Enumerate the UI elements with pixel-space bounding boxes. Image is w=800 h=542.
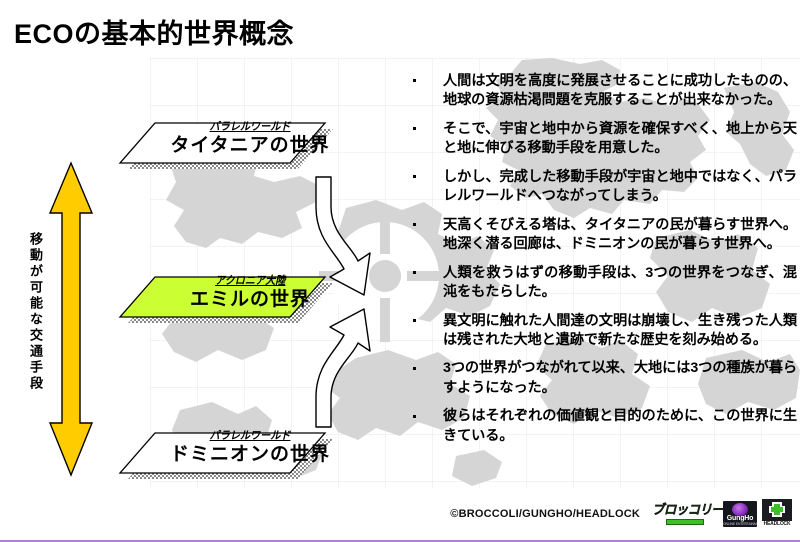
headlock-logo: HEADLOCK — [762, 499, 792, 529]
slide-canvas: ECOの基本的世界概念 — [0, 0, 800, 542]
bullet-text: そこで、宇宙と地中から資源を確保すべく、地上から天と地に伸びる移動手段を用意した… — [443, 121, 797, 156]
headlock-mark-icon — [769, 501, 785, 518]
bullet-item: 異文明に触れた人間達の文明は崩壊し、生き残った人類は残された大地と遺跡で新たな歴… — [405, 312, 797, 351]
gungho-logo: GungHo ONLINE ENTERTAINMENT, INC. — [723, 501, 757, 527]
bullet-text: 3つの世界がつながれて以来、大地には3つの種族が暮らすようになった。 — [443, 360, 797, 395]
bullet-text: 彼らはそれぞれの価値観と目的のために、この世界に生きている。 — [443, 408, 797, 443]
plane-dominion — [120, 433, 333, 479]
concept-bullet-list: 人間は文明を高度に発展させることに成功したものの、地球の資源枯渇問題を克服するこ… — [405, 72, 797, 455]
bullet-dot-icon — [413, 271, 416, 274]
bullet-text: 天高くそびえる塔は、タイタニアの民が暮らす世界へ。地深く潜る回廊は、ドミニオンの… — [443, 217, 797, 252]
bullet-dot-icon — [413, 223, 416, 226]
bullet-item: 人間は文明を高度に発展させることに成功したものの、地球の資源枯渇問題を克服するこ… — [405, 72, 797, 111]
broccoli-logo: ブロッコリー — [652, 502, 718, 526]
copyright-text: ©BROCCOLI/GUNGHO/HEADLOCK — [450, 508, 640, 520]
bullet-item: 人類を救うはずの移動手段は、3つの世界をつなぎ、混沌をもたらした。 — [405, 264, 797, 303]
bullet-dot-icon — [413, 415, 416, 418]
transport-axis-caption: 移動が可能な交通手段 — [20, 232, 42, 392]
bullet-dot-icon — [413, 127, 416, 130]
bullet-item: しかし、完成した移動手段が宇宙と地中ではなく、パラレルワールドへつながってしまう… — [405, 168, 797, 207]
bullet-dot-icon — [413, 175, 416, 178]
plane-emil — [120, 277, 333, 323]
headlock-logo-text: HEADLOCK — [762, 521, 792, 528]
bullet-item: 天高くそびえる塔は、タイタニアの民が暮らす世界へ。地深く潜る回廊は、ドミニオンの… — [405, 216, 797, 255]
footer-credits: ©BROCCOLI/GUNGHO/HEADLOCK ブロッコリー GungHo … — [0, 497, 800, 531]
bullet-item: そこで、宇宙と地中から資源を確保すべく、地上から天と地に伸びる移動手段を用意した… — [405, 120, 797, 159]
bullet-dot-icon — [413, 79, 416, 82]
bullet-text: 人類を救うはずの移動手段は、3つの世界をつなぎ、混沌をもたらした。 — [443, 265, 797, 300]
bullet-dot-icon — [413, 319, 416, 322]
broccoli-logo-text: ブロッコリー — [652, 502, 715, 518]
bullet-item: 3つの世界がつながれて以来、大地には3つの種族が暮らすようになった。 — [405, 359, 797, 398]
plane-titania — [120, 123, 333, 169]
bullet-item: 彼らはそれぞれの価値観と目的のために、この世界に生きている。 — [405, 407, 797, 446]
world-layer-diagram — [0, 55, 420, 505]
curved-arrow-up-icon — [316, 309, 370, 427]
bullet-dot-icon — [413, 367, 416, 370]
vertical-double-arrow-icon — [50, 163, 92, 475]
bullet-text: 異文明に触れた人間達の文明は崩壊し、生き残った人類は残された大地と遺跡で新たな歴… — [443, 313, 797, 348]
broccoli-logo-bar — [666, 519, 704, 525]
bullet-text: しかし、完成した移動手段が宇宙と地中ではなく、パラレルワールドへつながってしまう… — [443, 169, 797, 204]
slide-title: ECOの基本的世界概念 — [14, 12, 294, 51]
gungho-logo-subtext: ONLINE ENTERTAINMENT, INC. — [723, 522, 757, 526]
bullet-text: 人間は文明を高度に発展させることに成功したものの、地球の資源枯渇問題を克服するこ… — [443, 73, 797, 108]
